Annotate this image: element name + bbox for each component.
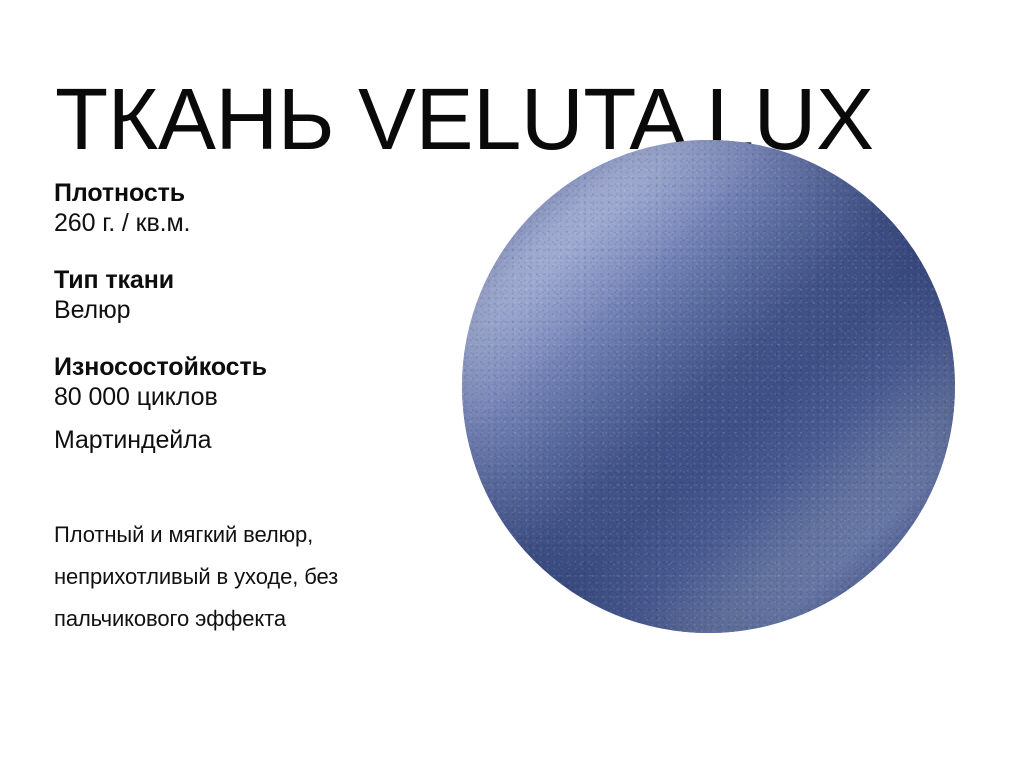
product-description: Плотный и мягкий велюр, неприхотливый в … [54,514,474,640]
slide-canvas: ТКАНЬ VELUTA LUX Плотность 260 г. / кв.м… [0,0,1024,767]
spec-item-durability: Износостойкость 80 000 циклов Мартиндейл… [54,352,454,456]
spec-value-density: 260 г. / кв.м. [54,208,454,239]
spec-item-density: Плотность 260 г. / кв.м. [54,178,454,239]
spec-value-durability: 80 000 циклов [54,382,454,413]
spec-item-fabric-type: Тип ткани Велюр [54,265,454,326]
fabric-swatch-photo [462,140,955,633]
spec-value-fabric-type: Велюр [54,295,454,326]
spec-label-fabric-type: Тип ткани [54,265,454,295]
spec-value-durability-unit: Мартиндейла [54,425,454,456]
fabric-vignette [462,140,955,633]
spec-label-density: Плотность [54,178,454,208]
spec-label-durability: Износостойкость [54,352,454,382]
spec-list: Плотность 260 г. / кв.м. Тип ткани Велюр… [54,178,454,456]
